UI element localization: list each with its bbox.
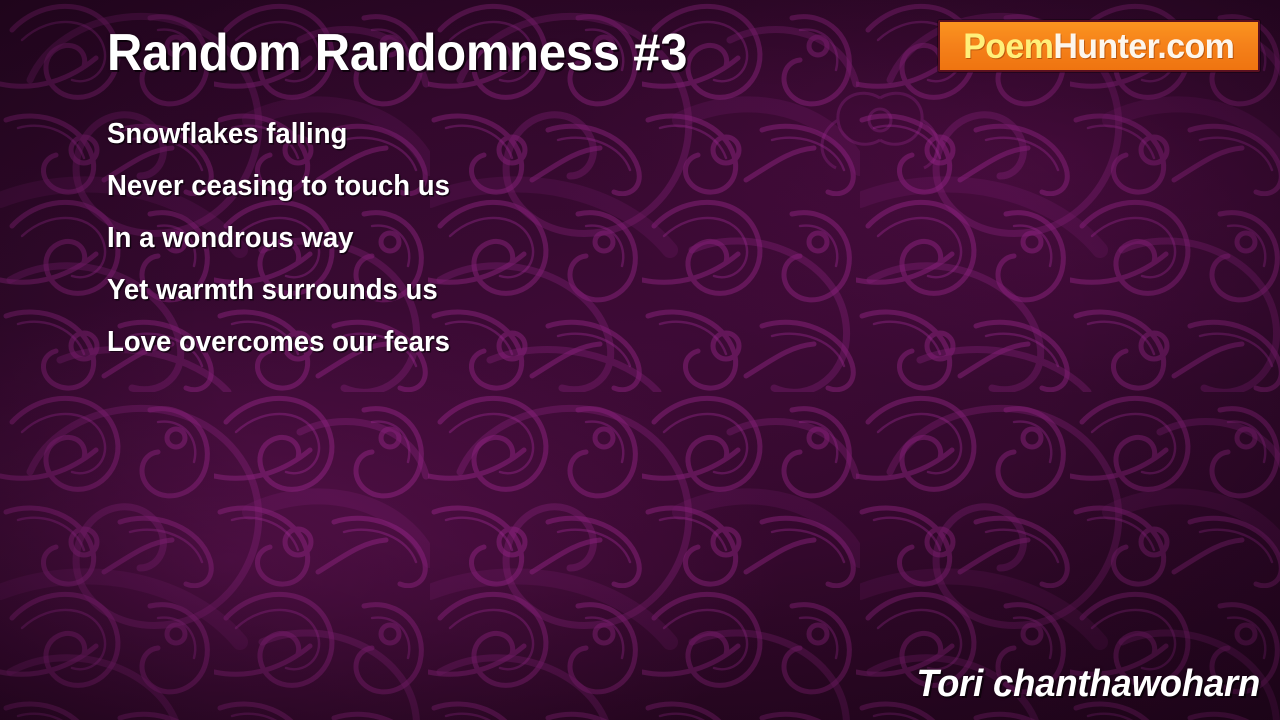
poem-line: Never ceasing to touch us (107, 160, 848, 212)
brand-logo-poem: Poem (963, 27, 1053, 66)
poem-line: Yet warmth surrounds us (107, 264, 848, 316)
poem-author: Tori chanthawoharn (916, 663, 1260, 706)
poem-line: Snowflakes falling (107, 108, 848, 160)
poem-text: Snowflakes falling Never ceasing to touc… (107, 108, 887, 368)
brand-logo-text: PoemHunter.com (963, 29, 1234, 64)
brand-logo-hunter: Hunter.com (1054, 27, 1235, 66)
page-title: Random Randomness #3 (107, 26, 687, 81)
poem-poster: Random Randomness #3 PoemHunter.com Snow… (0, 0, 1280, 720)
poem-line: Love overcomes our fears (107, 316, 848, 368)
poemhunter-logo[interactable]: PoemHunter.com (938, 20, 1260, 72)
poem-line: In a wondrous way (107, 212, 848, 264)
